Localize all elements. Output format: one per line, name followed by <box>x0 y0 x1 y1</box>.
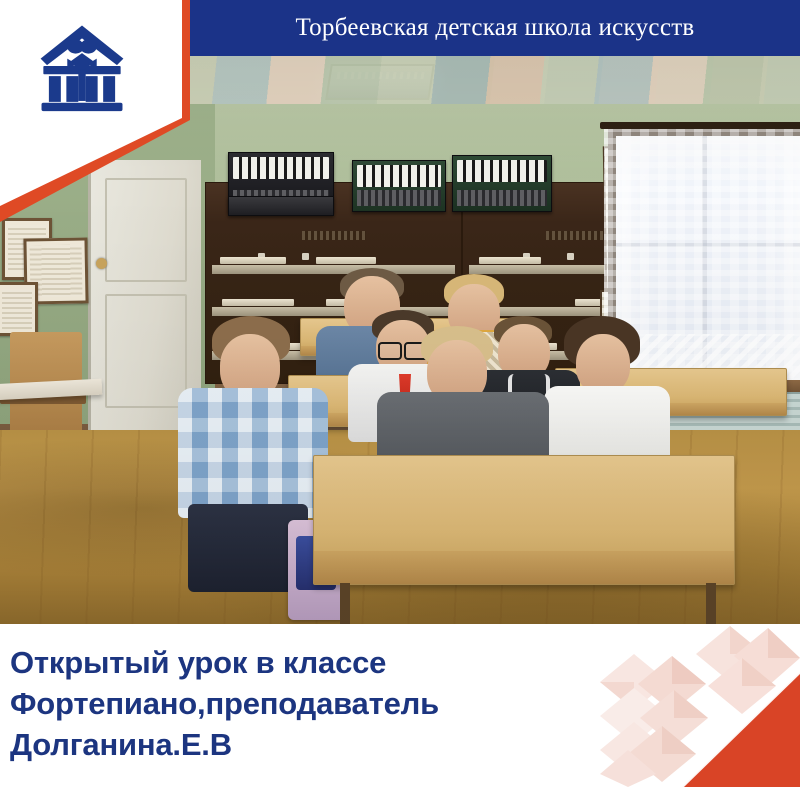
sheet-music <box>479 257 541 264</box>
caption-line-1: Открытый урок в классе <box>10 642 610 683</box>
sheet-music <box>220 257 286 264</box>
accordion <box>452 155 552 212</box>
school-desk-front <box>313 455 735 585</box>
cabinet-label <box>302 231 366 240</box>
student-girl-white-blouse <box>548 322 664 472</box>
door-knob <box>96 258 107 269</box>
accordion-bellows <box>357 190 441 206</box>
accordion-keys <box>357 165 441 187</box>
accordion <box>352 160 446 212</box>
school-announcement-poster: Торбеевская детская школа искусств <box>0 0 800 787</box>
caption-text: Открытый урок в классе Фортепиано,препод… <box>10 642 610 765</box>
curtain-rod <box>600 122 800 129</box>
plaid-shirt <box>178 388 328 518</box>
accordion-keys <box>457 160 547 182</box>
desk-leg <box>706 583 716 624</box>
cabinet-knob <box>302 253 309 260</box>
cabinet-knob <box>567 253 574 260</box>
desk-leg <box>340 583 350 624</box>
accordion <box>228 196 334 216</box>
triangle-pattern-decoration <box>600 624 800 787</box>
framed-certificate <box>0 282 38 336</box>
sheet-music <box>222 299 294 306</box>
ceiling-light-fixture <box>325 64 435 100</box>
header-banner: Торбеевская детская школа искусств <box>190 0 800 56</box>
caption-line-3: Долганина.Е.В <box>10 724 610 765</box>
school-name: Торбеевская детская школа искусств <box>295 14 694 42</box>
school-building-logo <box>36 20 128 112</box>
sheet-music <box>316 257 376 264</box>
accordion-keys <box>233 157 329 179</box>
face <box>576 334 630 394</box>
cabinet-label <box>546 231 610 240</box>
caption-line-2: Фортепиано,преподаватель <box>10 683 610 724</box>
accordion-bellows <box>457 190 547 206</box>
